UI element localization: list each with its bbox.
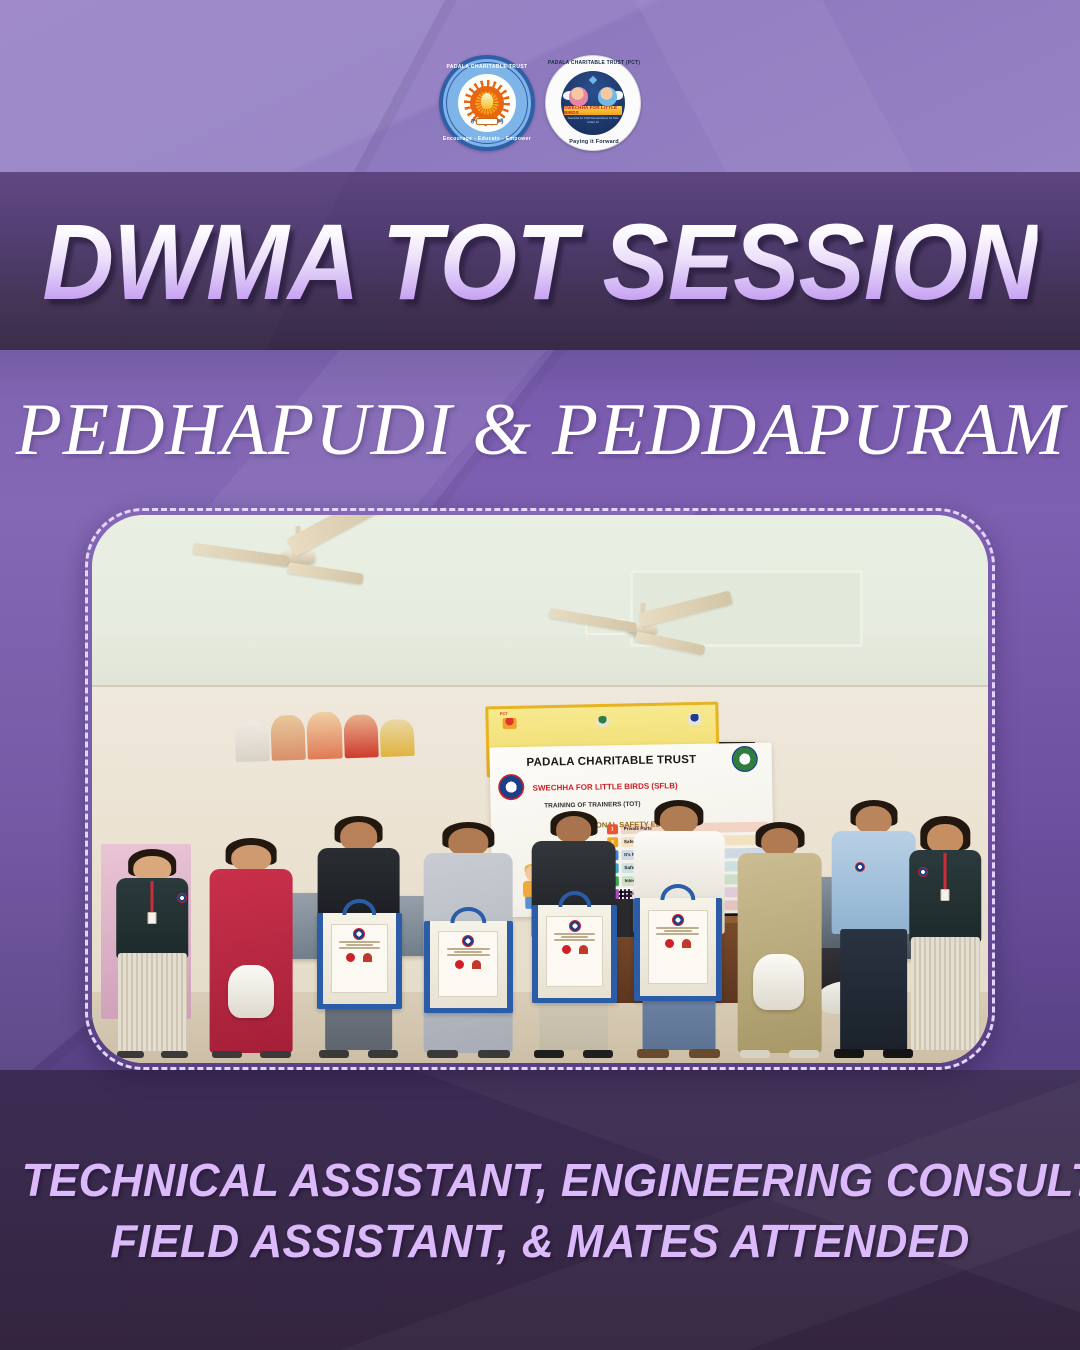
footer-line-1: TECHNICAL ASSISTANT, ENGINEERING CONSULT… [22,1150,1059,1211]
participant [733,822,827,1058]
subtitle-container: PEDHAPUDI & PEDDAPURAM [0,350,1080,510]
pct-seal-icon [498,774,524,800]
participant [419,822,518,1058]
banner-emblem-icon [502,718,516,729]
logo1-bottom-text: Encourage - Educate - Empower [439,136,535,142]
logo2-bottom-text: Paying it Forward [546,139,642,145]
logo2-top-text: PADALA CHARITABLE TRUST (PCT) [546,60,642,66]
logo2-tagline: SWECHHA FOR LITTLE BIRDS [564,106,622,115]
banner-organisation: PADALA CHARITABLE TRUST [526,754,696,769]
banner-emblem-icon [688,714,702,725]
poster-root: PADALA CHARITABLE TRUST పదాల చారిటబుల్ ట… [0,0,1080,1350]
swechha-for-little-birds-logo-icon: PADALA CHARITABLE TRUST (PCT) SWECHHA FO… [545,55,641,151]
page-subtitle: PEDHAPUDI & PEDDAPURAM [15,388,1065,473]
tote-bag [634,898,723,1001]
banner-emblem-icon [595,716,609,727]
footer-text: TECHNICAL ASSISTANT, ENGINEERING CONSULT… [0,1150,1080,1271]
participant [204,838,298,1057]
wall-art-strip [235,709,416,762]
logo-row: PADALA CHARITABLE TRUST పదాల చారిటబుల్ ట… [0,52,1080,154]
banner-programme: SWECHHA FOR LITTLE BIRDS (SFLB) [532,782,677,794]
footer-line-2: FIELD ASSISTANT, & MATES ATTENDED [22,1211,1059,1272]
tote-bag [532,905,617,1004]
logo2-core: SWECHHA FOR LITTLE BIRDS Swechha for Chi… [561,71,625,135]
tote-bag [317,913,402,1009]
white-gift-bag [753,954,804,1011]
group-photo: PCT పాటశాల పర్యటన PADALA CHARITABLE TRUS… [92,515,988,1063]
ceiling-fan-icon [558,603,728,665]
angel-child-right-icon [598,87,617,106]
white-gift-bag [228,965,273,1018]
title-container: DWMA TOT SESSION [0,172,1080,350]
participant [110,849,195,1057]
logo1-top-text: PADALA CHARITABLE TRUST [439,64,535,70]
participant [527,811,621,1058]
ceiling-fan-icon [208,526,388,596]
page-title: DWMA TOT SESSION [42,199,1037,324]
govt-seal-icon [731,746,757,772]
participant [630,800,729,1058]
lamp-icon [481,93,493,109]
participant [903,816,988,1057]
padala-charitable-trust-logo-icon: PADALA CHARITABLE TRUST పదాల చారిటబుల్ ట… [439,55,535,151]
photo-frame: PCT పాటశాల పర్యటన PADALA CHARITABLE TRUS… [85,508,995,1070]
angel-child-left-icon [569,87,588,106]
banner-subtitle: TRAINING OF TRAINERS (TOT) [544,801,640,810]
wall-cornice [92,685,988,687]
logo2-subtagline: Swechha for Child Sexual Abuse for Kids … [564,116,622,124]
kite-icon [589,76,597,84]
participant [312,816,406,1057]
tote-bag [424,921,513,1013]
book-icon [476,118,498,125]
